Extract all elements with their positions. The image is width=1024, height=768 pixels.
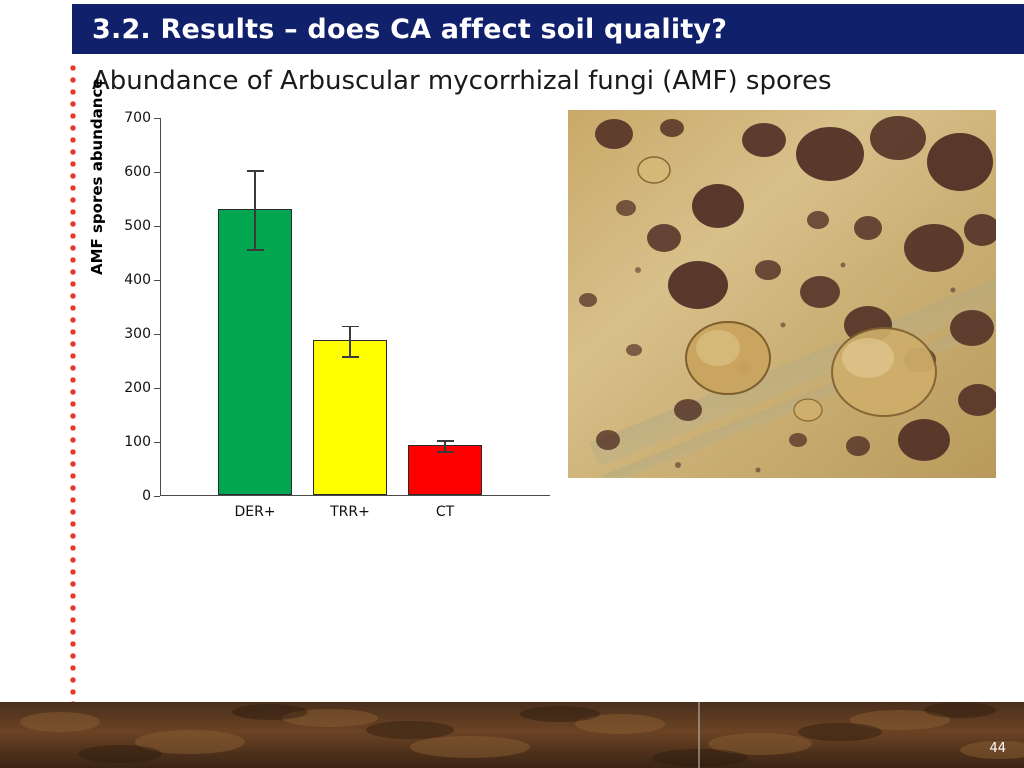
y-axis-tick — [154, 226, 160, 227]
y-axis-tick-label: 300 — [124, 326, 151, 342]
amf-spores-bar-chart: AMF spores abundance 0100200300400500600… — [92, 110, 562, 520]
x-axis-category-label: TRR+ — [330, 504, 370, 520]
decorative-dotted-rail — [70, 62, 76, 702]
y-axis-tick-label: 500 — [124, 218, 151, 234]
error-bar-cap — [247, 249, 264, 251]
chart-bar — [313, 340, 387, 495]
slide-title-bar: 3.2. Results – does CA affect soil quali… — [72, 4, 1024, 54]
error-bar-cap — [247, 170, 264, 172]
y-axis-tick — [154, 280, 160, 281]
y-axis-tick — [154, 442, 160, 443]
y-axis-tick — [154, 118, 160, 119]
y-axis-line — [160, 118, 161, 496]
chart-bar-fill — [313, 340, 387, 495]
slide-subtitle: Abundance of Arbuscular mycorrhizal fung… — [92, 66, 832, 96]
page-number: 44 — [989, 741, 1006, 756]
error-bar — [444, 440, 446, 451]
y-axis-tick-label: 400 — [124, 272, 151, 288]
y-axis-tick-label: 0 — [142, 488, 151, 504]
y-axis-tick — [154, 496, 160, 497]
chart-bar — [218, 209, 292, 495]
x-axis-line — [160, 495, 550, 496]
error-bar — [254, 170, 256, 249]
error-bar-cap — [437, 451, 454, 453]
x-axis-category-label: DER+ — [234, 504, 275, 520]
y-axis-tick-label: 100 — [124, 434, 151, 450]
chart-bar-fill — [218, 209, 292, 495]
error-bar-cap — [437, 440, 454, 442]
amf-spores-micrograph — [568, 110, 996, 478]
error-bar — [349, 326, 351, 356]
x-axis-category-label: CT — [436, 504, 454, 520]
y-axis-tick — [154, 172, 160, 173]
y-axis-label: AMF spores abundance — [88, 78, 106, 275]
error-bar-cap — [342, 326, 359, 328]
chart-plot-area: 0100200300400500600700DER+TRR+CT — [160, 118, 550, 496]
page-title: 3.2. Results – does CA affect soil quali… — [92, 14, 727, 45]
footer-soil-band: 44 — [0, 702, 1024, 768]
y-axis-tick-label: 200 — [124, 380, 151, 396]
y-axis-tick-label: 700 — [124, 110, 151, 126]
y-axis-tick — [154, 334, 160, 335]
error-bar-cap — [342, 356, 359, 358]
y-axis-tick-label: 600 — [124, 164, 151, 180]
y-axis-tick — [154, 388, 160, 389]
